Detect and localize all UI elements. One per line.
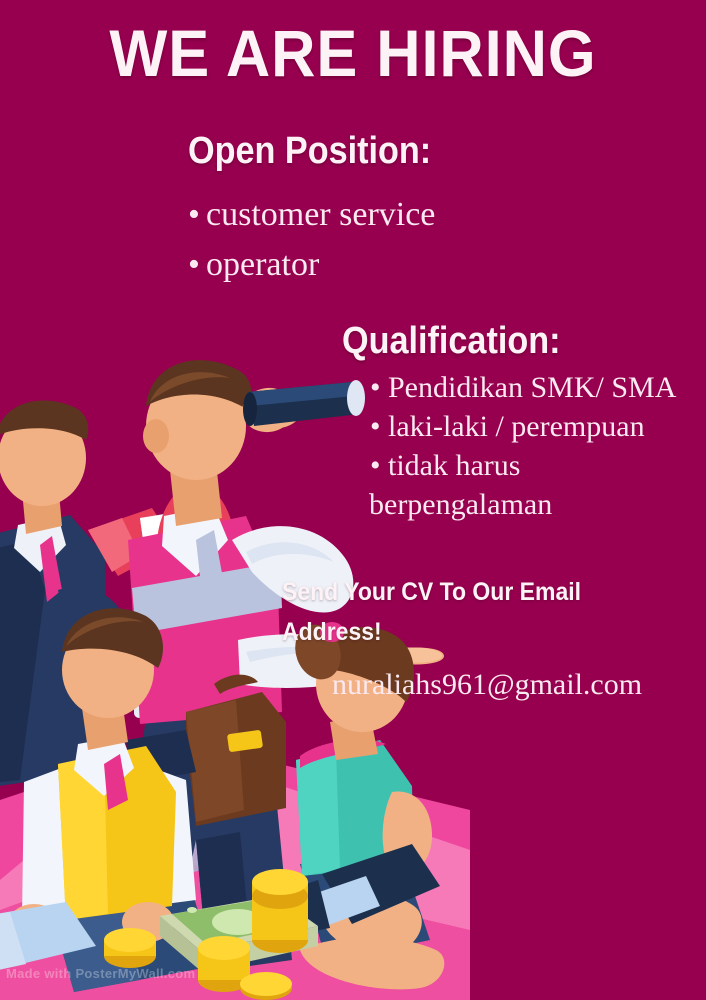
bullet-icon: • <box>370 407 388 446</box>
page-title: WE ARE HIRING <box>25 18 682 88</box>
bullet-icon: • <box>370 446 388 485</box>
cv-line-1: Send Your CV To Our Email <box>282 572 668 612</box>
coin-stack-left <box>104 928 156 968</box>
telescope <box>243 380 365 426</box>
bullet-icon: • <box>370 368 388 407</box>
position-label: operator <box>206 246 319 283</box>
list-item: •customer service <box>188 190 435 240</box>
open-position-heading: Open Position: <box>188 128 431 174</box>
bullet-icon: • <box>188 240 206 290</box>
list-item: •operator <box>188 240 435 290</box>
list-item: •tidak harus <box>370 446 706 485</box>
list-item: •Pendidikan SMK/ SMA <box>370 368 706 407</box>
open-position-list: •customer service •operator <box>188 190 435 290</box>
recruitment-poster: WE ARE HIRING Open Position: •customer s… <box>0 0 706 1000</box>
qualification-label: tidak harus <box>388 449 520 482</box>
cv-call-to-action: Send Your CV To Our Email Address! <box>282 572 668 652</box>
bullet-icon: • <box>188 190 206 240</box>
watermark: Made with PosterMyWall.com <box>6 966 195 981</box>
qualification-label: Pendidikan SMK/ SMA <box>388 371 676 404</box>
qualification-heading: Qualification: <box>342 318 561 364</box>
coin-stack-right <box>252 869 308 953</box>
qualification-continuation: berpengalaman <box>369 485 706 524</box>
qualification-list: •Pendidikan SMK/ SMA •laki-laki / peremp… <box>370 368 706 524</box>
list-item: •laki-laki / perempuan <box>370 407 706 446</box>
position-label: customer service <box>206 196 435 233</box>
contact-email: nuraliahs961@gmail.com <box>332 666 642 704</box>
cv-line-2: Address! <box>282 612 668 652</box>
coin-loose <box>240 972 292 1000</box>
qualification-label: laki-laki / perempuan <box>388 410 645 443</box>
